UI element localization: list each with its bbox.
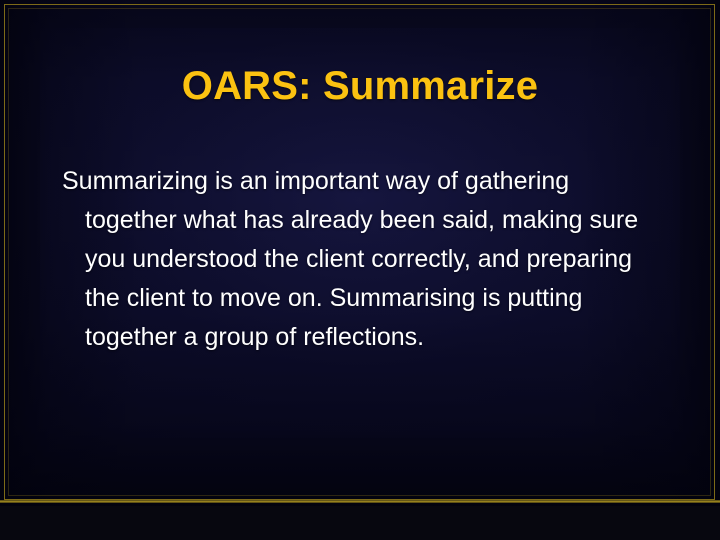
slide-title: OARS: Summarize <box>0 64 720 109</box>
footer-divider-rule <box>0 500 720 503</box>
slide-footer: UCLA <box>0 506 720 540</box>
presentation-slide: OARS: Summarize Summarizing is an import… <box>0 0 720 540</box>
slide-body-text: Summarizing is an important way of gathe… <box>85 162 655 357</box>
